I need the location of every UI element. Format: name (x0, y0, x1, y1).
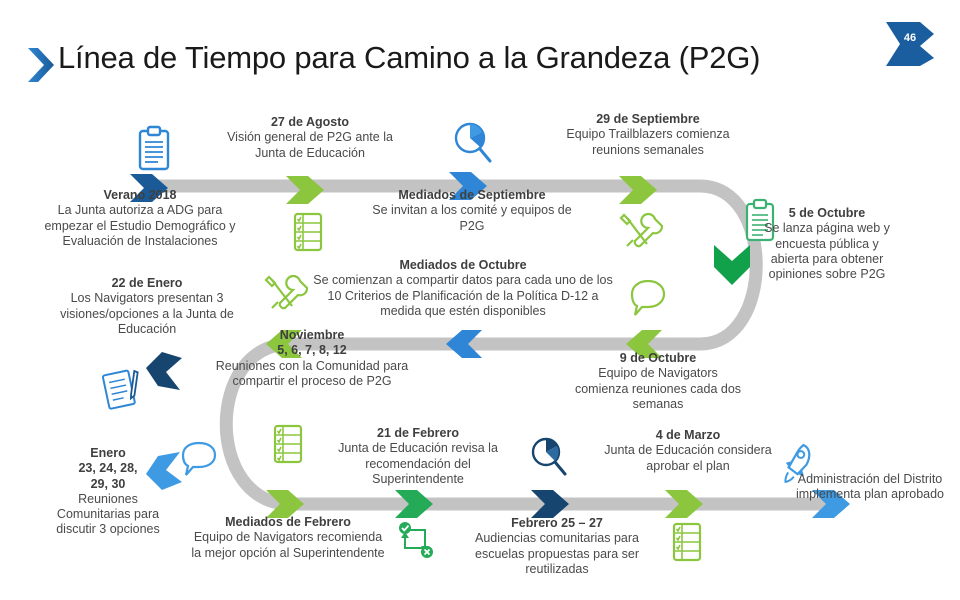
pie-magnifier-icon (527, 434, 571, 480)
timeline-marker (617, 168, 663, 212)
timeline-marker (284, 168, 330, 212)
label-heading: Mediados de Febrero (190, 515, 386, 530)
label-body: Visión general de P2G ante la Junta de E… (212, 130, 408, 161)
label-heading: 29 de Septiembre (548, 112, 748, 127)
label-22-enero: 22 de Enero Los Navigators presentan 3 v… (44, 276, 250, 337)
chevron-right-icon (26, 46, 56, 84)
pie-magnifier-icon (451, 120, 495, 166)
page-badge-chevron (884, 20, 940, 68)
label-body: Audiencias comunitarias para escuelas pr… (452, 531, 662, 577)
page-number: 46 (884, 32, 936, 44)
label-body: Junta de Educación considera aprobar el … (588, 443, 788, 474)
label-heading-line1: Enero (48, 446, 168, 461)
timeline-marker (440, 322, 486, 366)
label-mediados-septiembre: Mediados de Septiembre Se invitan a los … (372, 188, 572, 234)
label-enero-23-30: Enero 23, 24, 28, 29, 30 Reuniones Comun… (48, 446, 168, 538)
timeline-canvas: Verano 2018 La Junta autoriza a ADG para… (0, 96, 960, 600)
page-title: Línea de Tiempo para Camino a la Grandez… (58, 40, 760, 76)
slide-header: Línea de Tiempo para Camino a la Grandez… (0, 0, 960, 100)
label-5-octubre: 5 de Octubre Se lanza página web y encue… (762, 206, 892, 282)
label-27-agosto: 27 de Agosto Visión general de P2G ante … (212, 115, 408, 161)
process-cycle-icon (391, 520, 439, 566)
label-heading: Mediados de Septiembre (372, 188, 572, 203)
timeline-marker (142, 348, 188, 394)
label-body: Equipo Trailblazers comienza reunions se… (548, 127, 748, 158)
label-body: Se lanza página web y encuesta pública y… (762, 221, 892, 282)
label-heading: 27 de Agosto (212, 115, 408, 130)
label-body: Equipo de Navigators comienza reuniones … (570, 366, 746, 412)
label-9-octubre: 9 de Octubre Equipo de Navigators comien… (570, 351, 746, 412)
label-heading: Verano 2018 (40, 188, 240, 203)
label-body: Administración del Distrito implementa p… (786, 472, 954, 503)
label-heading-line2: 23, 24, 28, (48, 461, 168, 476)
tools-icon (617, 210, 665, 256)
label-heading: 9 de Octubre (570, 351, 746, 366)
checklist-icon (270, 422, 306, 468)
label-body: Los Navigators presentan 3 visiones/opci… (44, 291, 250, 337)
label-body: Reuniones con la Comunidad para comparti… (212, 359, 412, 390)
label-29-septiembre: 29 de Septiembre Equipo Trailblazers com… (548, 112, 748, 158)
label-body: Reuniones Comunitarias para discutir 3 o… (48, 492, 168, 538)
label-heading: Mediados de Octubre (313, 258, 613, 273)
checklist-icon (290, 210, 326, 254)
tools-icon (262, 272, 310, 318)
label-heading: 4 de Marzo (588, 428, 788, 443)
checklist-icon (669, 520, 705, 566)
label-body: Se invitan a los comité y equipos de P2G (372, 203, 572, 234)
label-body: Equipo de Navigators recomienda la mejor… (190, 530, 386, 561)
label-noviembre: Noviembre 5, 6, 7, 8, 12 Reuniones con l… (212, 328, 412, 389)
label-4-marzo: 4 de Marzo Junta de Educación considera … (588, 428, 788, 474)
label-mediados-octubre: Mediados de Octubre Se comienzan a compa… (313, 258, 613, 319)
label-21-febrero: 21 de Febrero Junta de Educación revisa … (318, 426, 518, 487)
label-body: La Junta autoriza a ADG para empezar el … (40, 203, 240, 249)
label-febrero-25-27: Febrero 25 – 27 Audiencias comunitarias … (452, 516, 662, 577)
speech-bubble-icon (628, 276, 668, 320)
timeline-marker (708, 241, 756, 289)
label-administracion: Administración del Distrito implementa p… (786, 472, 954, 503)
label-body: Se comienzan a compartir datos para cada… (313, 273, 613, 319)
label-heading: 22 de Enero (44, 276, 250, 291)
label-heading-line2: 5, 6, 7, 8, 12 (212, 343, 412, 358)
label-heading: 21 de Febrero (318, 426, 518, 441)
label-verano-2018: Verano 2018 La Junta autoriza a ADG para… (40, 188, 240, 249)
label-heading-line3: 29, 30 (48, 477, 168, 492)
label-mediados-febrero: Mediados de Febrero Equipo de Navigators… (190, 515, 386, 561)
label-heading: Febrero 25 – 27 (452, 516, 662, 531)
notepad-pen-icon (100, 366, 144, 414)
label-body: Junta de Educación revisa la recomendaci… (318, 441, 518, 487)
label-heading: 5 de Octubre (762, 206, 892, 221)
